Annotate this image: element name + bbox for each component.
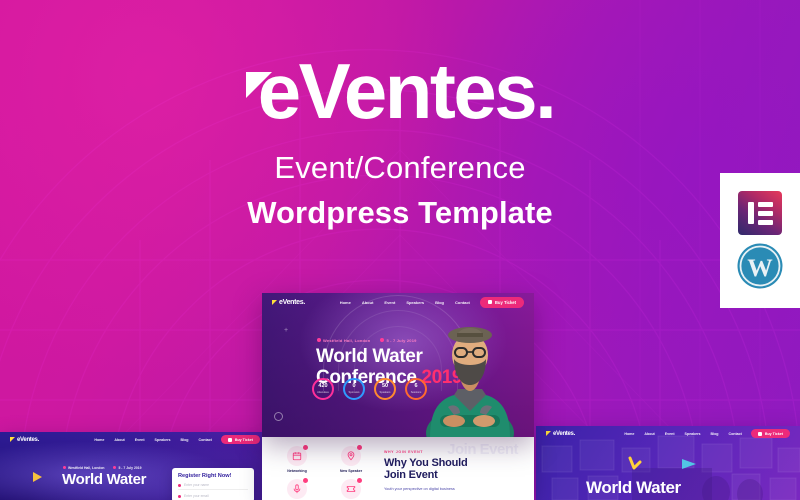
speaker-photo: [424, 315, 516, 437]
menu-item-event[interactable]: Event: [384, 300, 395, 305]
event-date: 5 - 7 July 2019: [380, 338, 416, 343]
mockup-hero-title: World Water: [62, 472, 146, 488]
menu-item-about[interactable]: About: [114, 438, 124, 442]
brand-logo-text: eVentes.: [258, 52, 555, 130]
menu-item-about[interactable]: About: [362, 300, 374, 305]
feature-new-speaker-label: New Speaker: [328, 469, 374, 473]
mockup-gallery-page[interactable]: eVentes. Home About Event Speakers Blog …: [536, 426, 800, 500]
features-title: Why You Should Join Event: [384, 457, 468, 482]
menu-item-home[interactable]: Home: [94, 438, 104, 442]
feature-networking[interactable]: Networking: [274, 446, 320, 473]
buy-ticket-button[interactable]: Buy Ticket: [480, 297, 524, 308]
mockup-features-section[interactable]: Join Event Networking: [262, 437, 534, 500]
mockup-navbar: eVentes. Home About Event Speakers Blog …: [536, 426, 800, 441]
bullet-icon: [178, 495, 181, 498]
mockup-logo-text: eVentes.: [279, 299, 305, 306]
menu-item-contact[interactable]: Contact: [199, 438, 212, 442]
menu-item-about[interactable]: About: [644, 432, 654, 436]
badge-dot: [357, 478, 362, 483]
ticket-icon: [758, 432, 762, 436]
buy-ticket-label: Buy Ticket: [235, 438, 253, 442]
menu-item-blog[interactable]: Blog: [181, 438, 189, 442]
badge-dot: [303, 478, 308, 483]
promo-banner: eVentes. Event/Conference Wordpress Temp…: [0, 0, 800, 500]
event-date: 5 - 7 July 2019: [113, 466, 141, 470]
ticket-icon: [488, 300, 492, 304]
triangle-decoration-icon: [33, 472, 42, 482]
menu-item-blog[interactable]: Blog: [711, 432, 719, 436]
elementor-bars-horizontal: [758, 202, 773, 225]
register-form-card[interactable]: Register Right Now! Enter your name Ente…: [172, 468, 254, 500]
feature-live-music[interactable]: Live Music: [328, 479, 374, 500]
mockup-hero-title: World Water: [586, 478, 681, 498]
svg-text:W: W: [747, 253, 773, 282]
menu-item-contact[interactable]: Contact: [455, 300, 470, 305]
ticket-icon: [228, 438, 232, 442]
platform-badges-panel: W: [720, 173, 800, 308]
mockup-logo[interactable]: eVentes.: [546, 431, 575, 437]
ticket-icon: [341, 479, 361, 499]
mockup-navbar: eVentes. Home About Event Speakers Blog …: [0, 432, 270, 447]
circle-decoration: [274, 412, 283, 421]
register-name-placeholder: Enter your name: [184, 483, 209, 487]
menu-item-event[interactable]: Event: [135, 438, 145, 442]
register-email-placeholder: Enter your email: [184, 494, 209, 498]
hero-copy: eVentes. Event/Conference Wordpress Temp…: [0, 52, 800, 231]
menu-item-speakers[interactable]: Speakers: [155, 438, 171, 442]
menu-item-speakers[interactable]: Speakers: [685, 432, 701, 436]
mockup-homepage-hero[interactable]: eVentes. Home About Event Speakers Blog …: [262, 293, 534, 437]
feature-workshops[interactable]: Workshops: [274, 479, 320, 500]
event-location: Westfield Hall, London: [317, 338, 370, 343]
feature-icon-grid: Networking New Speaker: [274, 446, 374, 491]
counter-sponsors: 0 Sponsors: [343, 378, 365, 400]
menu-item-blog[interactable]: Blog: [435, 300, 444, 305]
counter-attendees: 420 Attendees: [312, 378, 334, 400]
mockup-logo-text: eVentes.: [553, 431, 575, 437]
hero-subtitle-product: Wordpress Template: [0, 195, 800, 231]
counter-speakers: 50 Speakers: [374, 378, 396, 400]
features-subtitle: Youth your perspective on digital busine…: [384, 487, 468, 491]
elementor-bar-vertical: [748, 202, 754, 224]
mockup-logo[interactable]: eVentes.: [272, 299, 305, 306]
features-copy: WHY JOIN EVENT Why You Should Join Event…: [384, 446, 468, 491]
triangle-mark-icon: [546, 431, 551, 436]
triangle-mark-icon: [272, 300, 277, 305]
register-form-title: Register Right Now!: [178, 473, 248, 479]
buy-ticket-button[interactable]: Buy Ticket: [221, 435, 260, 444]
menu-item-speakers[interactable]: Speakers: [406, 300, 424, 305]
mockup-register-page[interactable]: eVentes. Home About Event Speakers Blog …: [0, 432, 270, 500]
bullet-icon: [178, 484, 181, 487]
mockup-logo[interactable]: eVentes.: [10, 437, 39, 443]
event-location: Westfield Hall, London: [63, 466, 104, 470]
elementor-icon: [738, 191, 782, 235]
mockup-navbar: eVentes. Home About Event Speakers Blog …: [262, 293, 534, 311]
badge-dot: [303, 445, 308, 450]
triangle-decoration-icon: [682, 459, 696, 469]
brand-logo: eVentes.: [246, 52, 555, 130]
triangle-mark-icon: [10, 437, 15, 442]
plus-decoration-icon: +: [284, 327, 288, 334]
buy-ticket-button[interactable]: Buy Ticket: [751, 429, 790, 438]
mic-icon: [287, 479, 307, 499]
register-name-field[interactable]: Enter your name: [178, 483, 248, 490]
mockup-logo-text: eVentes.: [17, 437, 39, 443]
register-email-field[interactable]: Enter your email: [178, 494, 248, 500]
menu-item-home[interactable]: Home: [624, 432, 634, 436]
mockup-event-meta: Westfield Hall, London 5 - 7 July 2019: [317, 338, 417, 343]
calendar-icon: [287, 446, 307, 466]
wordpress-icon: W: [736, 242, 784, 290]
mockup-menu[interactable]: Home About Event Speakers Blog Contact: [624, 432, 742, 436]
badge-dot: [357, 445, 362, 450]
mockup-event-meta: Westfield Hall, London 5 - 7 July 2019: [63, 466, 141, 470]
feature-new-speaker[interactable]: New Speaker: [328, 446, 374, 473]
mockup-menu[interactable]: Home About Event Speakers Blog Contact: [340, 300, 470, 305]
location-pin-icon: [341, 446, 361, 466]
menu-item-contact[interactable]: Contact: [729, 432, 742, 436]
mockup-counters: 420 Attendees 0 Sponsors 50 Speakers 6 S…: [312, 378, 427, 400]
menu-item-event[interactable]: Event: [665, 432, 675, 436]
hero-subtitle-category: Event/Conference: [0, 150, 800, 186]
feature-networking-label: Networking: [274, 469, 320, 473]
squiggle-decoration-icon: [628, 456, 646, 472]
buy-ticket-label: Buy Ticket: [765, 432, 783, 436]
features-eyebrow: WHY JOIN EVENT: [384, 450, 468, 454]
mockup-menu[interactable]: Home About Event Speakers Blog Contact: [94, 438, 212, 442]
buy-ticket-label: Buy Ticket: [495, 300, 516, 305]
menu-item-home[interactable]: Home: [340, 300, 351, 305]
